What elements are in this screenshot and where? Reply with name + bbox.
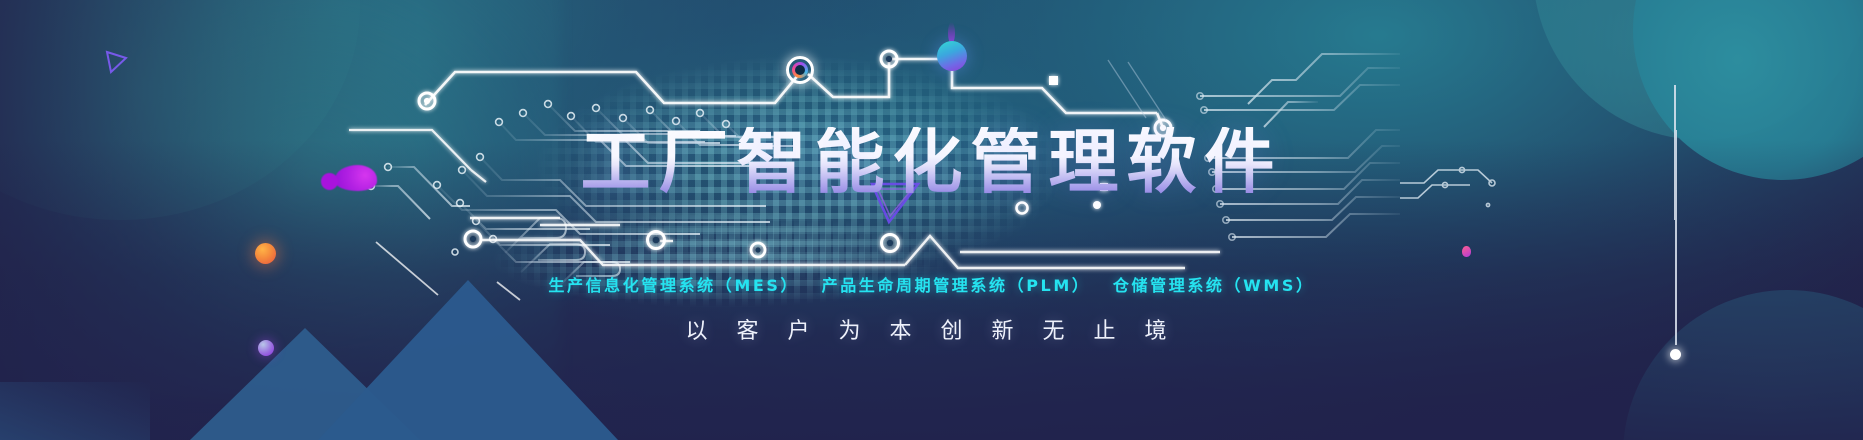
title-container: 工厂智能化管理软件 <box>0 127 1863 197</box>
product-item-mes: 生产信息化管理系统（MES） <box>548 272 799 296</box>
tagline-text: 以 客 户 为 本 创 新 无 止 境 <box>686 313 1178 345</box>
ring-inner <box>792 62 808 78</box>
circuit-board-graphic <box>0 0 1863 440</box>
tagline-container: 以 客 户 为 本 创 新 无 止 境 <box>0 313 1863 345</box>
product-item-plm: 产品生命周期管理系统（PLM） <box>822 272 1091 296</box>
product-list: 生产信息化管理系统（MES） 产品生命周期管理系统（PLM） 仓储管理系统（WM… <box>0 272 1863 296</box>
page-title: 工厂智能化管理软件 <box>581 127 1283 197</box>
glowing-ring-node-icon <box>786 56 814 84</box>
gradient-sphere-node <box>937 41 967 71</box>
white-endpoint-dot <box>1670 349 1681 360</box>
pink-accent-dot <box>1462 246 1471 257</box>
orange-accent-dot <box>255 243 276 264</box>
product-item-wms: 仓储管理系统（WMS） <box>1113 272 1315 296</box>
hero-banner: 工厂智能化管理软件 生产信息化管理系统（MES） 产品生命周期管理系统（PLM）… <box>0 0 1863 440</box>
